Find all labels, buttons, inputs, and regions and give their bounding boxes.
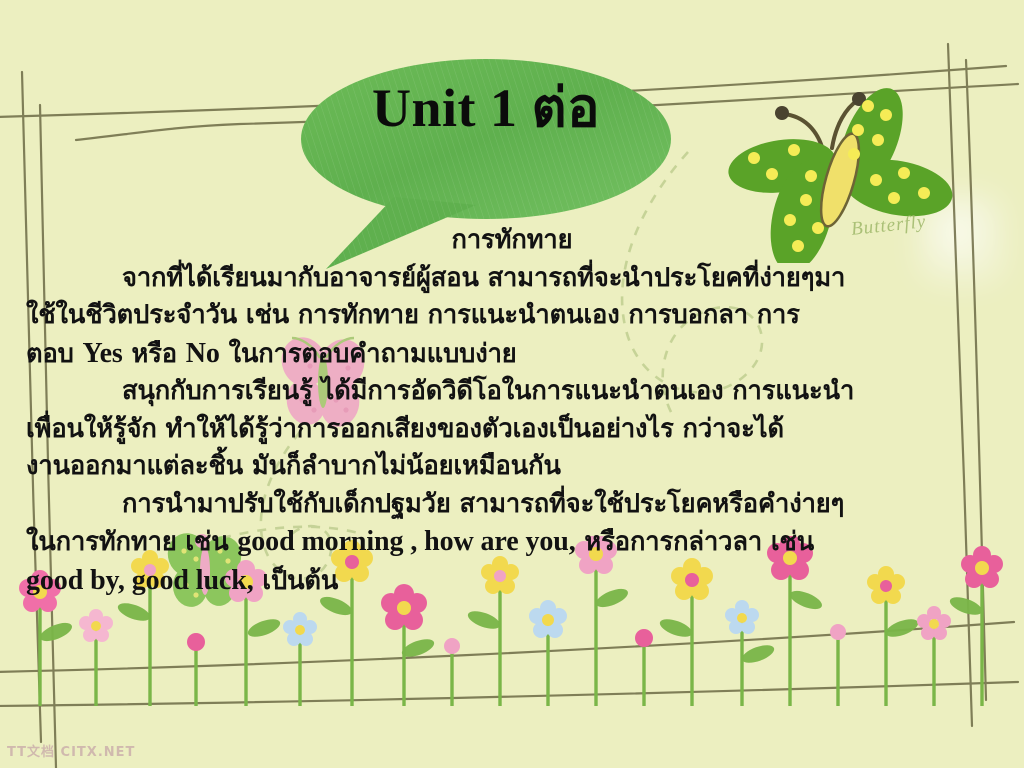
thai-phrase: ตอบ	[26, 339, 83, 369]
thai-phrase: ใช้ในชีวิตประจำวัน เช่น การทักทาย การแนะ…	[26, 300, 800, 330]
thai-phrase: งานออกมาแต่ละชิ้น มันก็ลำบากไม่น้อยเหมือ…	[26, 451, 561, 481]
body-line: เพื่อนให้รู้จัก ทำให้ได้รู้ว่าการออกเสีย…	[26, 411, 998, 449]
thai-phrase: เป็นต้น	[254, 566, 339, 596]
slide-body-text: การทักทาย จากที่ได้เรียนมากับอาจารย์ผู้ส…	[26, 222, 998, 600]
thai-phrase: ในการตอบคำถามแบบง่าย	[220, 339, 517, 369]
body-line: งานออกมาแต่ละชิ้น มันก็ลำบากไม่น้อยเหมือ…	[26, 448, 998, 486]
body-line: สนุกกับการเรียนรู้ ได้มีการอัดวิดีโอในกา…	[26, 373, 998, 411]
page-title: Unit 1 ต่อ	[286, 79, 686, 137]
body-line: ตอบ Yes หรือ No ในการตอบคำถามแบบง่าย	[26, 335, 998, 374]
body-paragraph: การนำมาปรับใช้กับเด็กปฐมวัย สามารถที่จะใ…	[26, 486, 998, 601]
body-line: good by, good luck, เป็นต้น	[26, 562, 998, 601]
english-phrase: good morning , how are you,	[237, 526, 575, 557]
thai-phrase: จากที่ได้เรียนมากับอาจารย์ผู้สอน สามารถท…	[122, 263, 845, 293]
body-line: ในการทักทาย เช่น good morning , how are …	[26, 523, 998, 562]
body-paragraph: จากที่ได้เรียนมากับอาจารย์ผู้สอน สามารถท…	[26, 260, 998, 374]
thai-phrase: เพื่อนให้รู้จัก ทำให้ได้รู้ว่าการออกเสีย…	[26, 414, 784, 444]
body-line: จากที่ได้เรียนมากับอาจารย์ผู้สอน สามารถท…	[26, 260, 998, 298]
english-phrase: No	[186, 338, 220, 369]
english-phrase: Yes	[83, 338, 123, 369]
english-phrase: good by, good luck,	[26, 565, 254, 596]
thai-phrase: หรือการกล่าวลา เช่น	[576, 527, 814, 557]
thai-phrase: สนุกกับการเรียนรู้ ได้มีการอัดวิดีโอในกา…	[122, 376, 854, 406]
watermark: TT文档 CITX.NET	[7, 741, 135, 760]
body-paragraph: สนุกกับการเรียนรู้ ได้มีการอัดวิดีโอในกา…	[26, 373, 998, 486]
thai-phrase: การนำมาปรับใช้กับเด็กปฐมวัย สามารถที่จะใ…	[122, 489, 844, 519]
slide-canvas: Unit 1 ต่อ	[0, 0, 1024, 768]
body-paragraphs: จากที่ได้เรียนมากับอาจารย์ผู้สอน สามารถท…	[26, 260, 998, 601]
body-line: การนำมาปรับใช้กับเด็กปฐมวัย สามารถที่จะใ…	[26, 486, 998, 524]
body-heading: การทักทาย	[26, 222, 998, 260]
thai-phrase: ในการทักทาย เช่น	[26, 527, 237, 557]
thai-phrase: หรือ	[123, 339, 186, 369]
body-line: ใช้ในชีวิตประจำวัน เช่น การทักทาย การแนะ…	[26, 297, 998, 335]
